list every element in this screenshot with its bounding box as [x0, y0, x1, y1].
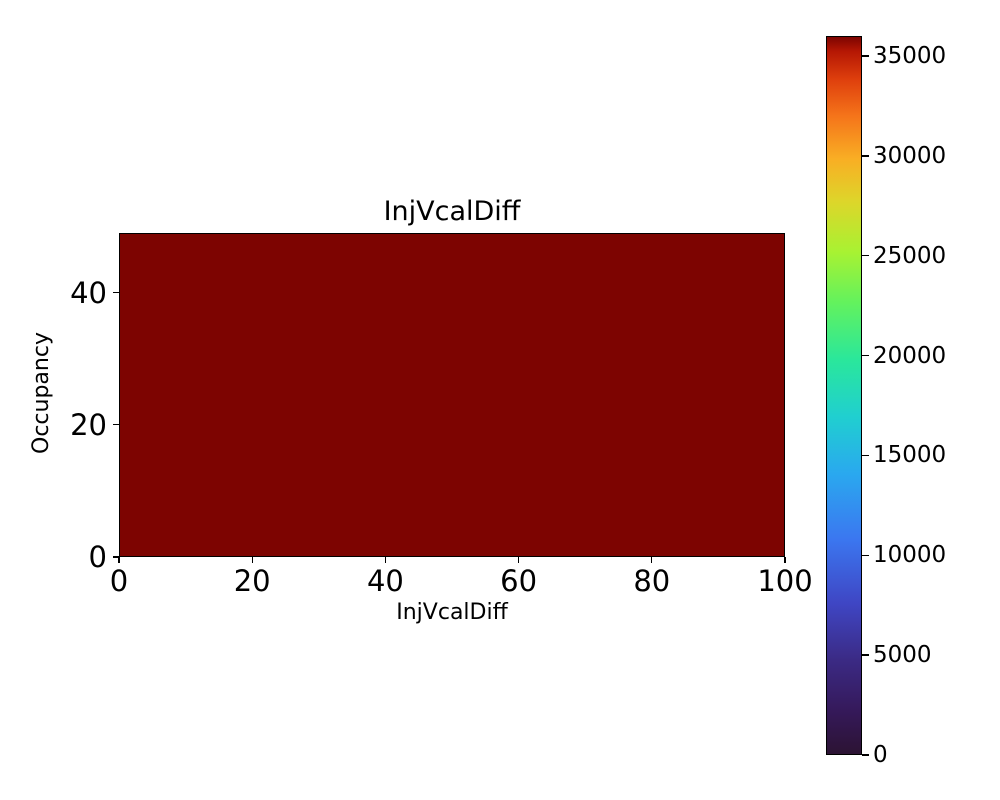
x-tick-label: 40 — [367, 565, 404, 597]
x-tick-label: 20 — [234, 565, 271, 597]
colorbar-tick-label: 20000 — [873, 343, 946, 369]
figure-canvas: InjVcalDiff 020406080100 02040 InjVcalDi… — [0, 0, 1000, 800]
x-tick-mark — [518, 557, 519, 563]
colorbar-gradient — [827, 37, 861, 754]
colorbar-tick-mark — [862, 555, 869, 556]
colorbar-tick-label: 0 — [873, 742, 888, 768]
colorbar-tick-mark — [862, 55, 869, 56]
heatmap-image — [120, 234, 784, 556]
heatmap-axes[interactable] — [119, 233, 785, 557]
y-tick-mark — [113, 292, 119, 293]
colorbar-tick-label: 25000 — [873, 243, 946, 269]
colorbar-tick-mark — [862, 455, 869, 456]
colorbar-tick-mark — [862, 355, 869, 356]
colorbar[interactable] — [826, 36, 862, 755]
colorbar-tick-label: 30000 — [873, 143, 946, 169]
colorbar-tick-label: 35000 — [873, 43, 946, 69]
x-tick-mark — [385, 557, 386, 563]
x-tick-label: 100 — [757, 565, 812, 597]
x-tick-label: 80 — [633, 565, 670, 597]
y-axis-label: Occupancy — [29, 283, 55, 503]
y-tick-mark — [113, 424, 119, 425]
x-axis-label: InjVcalDiff — [119, 600, 785, 626]
colorbar-tick-label: 5000 — [873, 642, 932, 668]
x-tick-mark — [118, 557, 119, 563]
colorbar-tick-mark — [862, 754, 869, 755]
colorbar-tick-label: 15000 — [873, 442, 946, 468]
x-tick-mark — [252, 557, 253, 563]
colorbar-tick-mark — [862, 654, 869, 655]
page-title: InjVcalDiff — [119, 197, 785, 227]
x-tick-mark — [651, 557, 652, 563]
x-tick-label: 0 — [110, 565, 128, 597]
x-tick-mark — [784, 557, 785, 563]
x-tick-label: 60 — [500, 565, 537, 597]
y-tick-label: 0 — [0, 541, 107, 573]
colorbar-tick-label: 10000 — [873, 542, 946, 568]
y-tick-mark — [113, 556, 119, 557]
colorbar-tick-mark — [862, 155, 869, 156]
colorbar-tick-mark — [862, 255, 869, 256]
